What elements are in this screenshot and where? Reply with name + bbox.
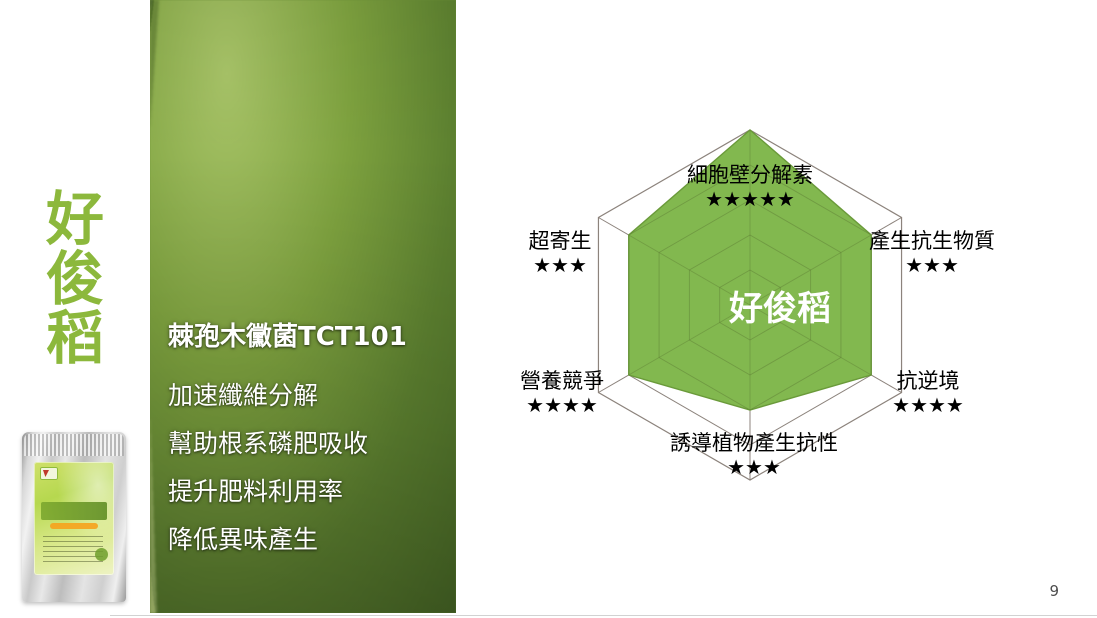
panel-text-block: 棘孢木黴菌TCT101 加速纖維分解 幫助根系磷肥吸收 提升肥料利用率 降低異味… xyxy=(168,322,450,552)
panel-bullet-2: 幫助根系磷肥吸收 xyxy=(168,431,450,456)
axis-label-4-stars: ★★★★ xyxy=(432,394,692,416)
brand-char-3: 稻 xyxy=(0,309,150,369)
bag-logo-icon xyxy=(40,467,58,480)
axis-label-induced-resistance: 誘導植物產生抗性 ★★★ xyxy=(624,431,884,478)
bag-label-text-lines xyxy=(43,536,103,566)
radar-chart-svg xyxy=(470,60,1090,580)
bag-front-label xyxy=(34,462,114,575)
brand-vertical-title: 好 俊 稻 xyxy=(0,190,150,369)
panel-bullet-4: 降低異味產生 xyxy=(168,527,450,552)
panel-bullet-3: 提升肥料利用率 xyxy=(168,479,450,504)
axis-label-hyperparasitism: 超寄生 ★★★ xyxy=(430,229,690,276)
brand-char-1: 好 xyxy=(0,190,150,250)
rice-field-photo-panel: 棘孢木黴菌TCT101 加速纖維分解 幫助根系磷肥吸收 提升肥料利用率 降低異味… xyxy=(150,0,456,613)
axis-label-2-text: 抗逆境 xyxy=(897,369,960,393)
bag-seal-icon xyxy=(95,548,108,561)
axis-label-1-text: 產生抗生物質 xyxy=(869,229,995,253)
axis-label-3-stars: ★★★ xyxy=(624,456,884,478)
bag-label-subtitle xyxy=(50,523,98,529)
radar-chart: 好俊稻 細胞壁分解素 ★★★★★ 產生抗生物質 ★★★ 抗逆境 ★★★★ 誘導植… xyxy=(470,60,1090,580)
axis-label-4-text: 營養競爭 xyxy=(520,369,604,393)
product-bag-photo xyxy=(8,428,140,606)
bag-label-title xyxy=(41,502,107,520)
left-column: 好 俊 稻 xyxy=(0,0,150,618)
axis-label-5-stars: ★★★ xyxy=(430,254,690,276)
axis-label-nutrient-competition: 營養競爭 ★★★★ xyxy=(432,369,692,416)
axis-label-cell-wall-enzyme: 細胞壁分解素 ★★★★★ xyxy=(620,163,880,210)
brand-char-2: 俊 xyxy=(0,250,150,310)
axis-label-0-stars: ★★★★★ xyxy=(620,188,880,210)
axis-label-0-text: 細胞壁分解素 xyxy=(687,163,813,187)
bottom-divider xyxy=(110,615,1097,616)
axis-label-antibiotic-production: 產生抗生物質 ★★★ xyxy=(802,229,1062,276)
axis-label-stress-resistance: 抗逆境 ★★★★ xyxy=(798,369,1058,416)
panel-bullet-1: 加速纖維分解 xyxy=(168,383,450,408)
slide-canvas: 好 俊 稻 棘孢木黴菌TCT101 加速纖維分解 幫助根系磷肥吸收 提升肥料 xyxy=(0,0,1097,618)
axis-label-2-stars: ★★★★ xyxy=(798,394,1058,416)
axis-label-5-text: 超寄生 xyxy=(529,229,592,253)
panel-bullet-list: 加速纖維分解 幫助根系磷肥吸收 提升肥料利用率 降低異味產生 xyxy=(168,383,450,552)
page-number: 9 xyxy=(1049,582,1059,600)
panel-heading: 棘孢木黴菌TCT101 xyxy=(168,322,450,353)
axis-label-3-text: 誘導植物產生抗性 xyxy=(670,431,838,455)
axis-label-1-stars: ★★★ xyxy=(802,254,1062,276)
